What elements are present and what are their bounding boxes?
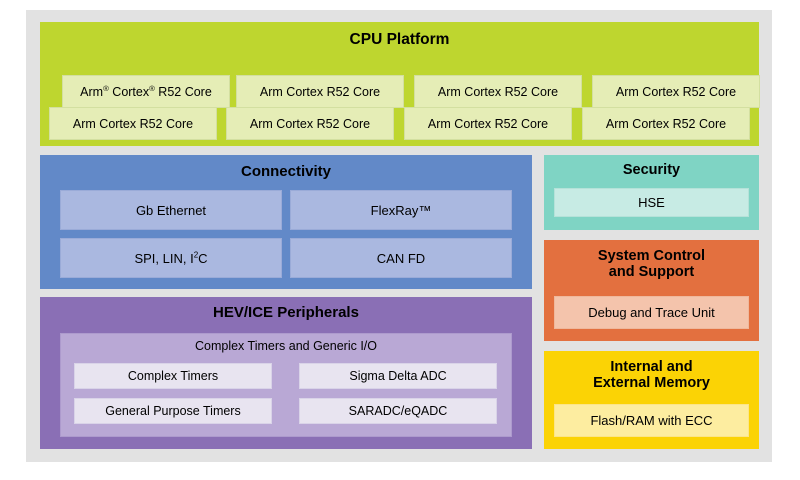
cpu-core-box: Arm Cortex R52 Core [592,75,760,108]
cpu-core-label: Arm Cortex R52 Core [260,85,380,99]
block-diagram: CPU Platform Arm® Cortex® R52 Core Arm C… [0,0,800,480]
connectivity-title: Connectivity [40,155,532,181]
hev-item-label: Sigma Delta ADC [349,369,446,383]
system-control-title-line2: and Support [544,264,759,280]
cpu-platform-title: CPU Platform [40,22,759,48]
connectivity-block: Connectivity Gb Ethernet FlexRay™ SPI, L… [40,155,532,289]
memory-item-label: Flash/RAM with ECC [590,413,712,428]
hev-item-sigma-delta-adc: Sigma Delta ADC [299,363,497,389]
cpu-core-box: Arm Cortex R52 Core [414,75,582,108]
memory-item-flash-ram-ecc: Flash/RAM with ECC [554,404,749,437]
hev-ice-title: HEV/ICE Peripherals [40,297,532,322]
connectivity-item-flexray: FlexRay™ [290,190,512,230]
system-control-title: System Control and Support [544,240,759,280]
cpu-core-label: Arm Cortex R52 Core [616,85,736,99]
hev-item-complex-timers: Complex Timers [74,363,272,389]
complex-timers-generic-io-label: Complex Timers and Generic I/O [61,334,511,353]
hev-item-general-purpose-timers: General Purpose Timers [74,398,272,424]
memory-title: Internal and External Memory [544,351,759,391]
cpu-core-box: Arm Cortex R52 Core [582,107,750,140]
cpu-platform-block: CPU Platform Arm® Cortex® R52 Core Arm C… [40,22,759,146]
hev-item-label: Complex Timers [128,369,218,383]
cpu-core-box: Arm® Cortex® R52 Core [62,75,230,108]
hev-item-label: General Purpose Timers [105,404,240,418]
security-title: Security [544,155,759,178]
hev-item-saradc-eqadc: SARADC/eQADC [299,398,497,424]
hev-item-label: SARADC/eQADC [349,404,448,418]
complex-timers-generic-io-panel: Complex Timers and Generic I/O Complex T… [60,333,512,437]
cpu-core-box: Arm Cortex R52 Core [226,107,394,140]
connectivity-item-label: Gb Ethernet [136,203,206,218]
cpu-core-label: Arm Cortex R52 Core [438,85,558,99]
system-control-title-line1: System Control [544,248,759,264]
cpu-core-box: Arm Cortex R52 Core [404,107,572,140]
security-block: Security HSE [544,155,759,230]
connectivity-item-label: FlexRay™ [371,203,432,218]
cpu-core-box: Arm Cortex R52 Core [49,107,217,140]
cpu-core-label: Arm Cortex R52 Core [606,117,726,131]
system-control-item-label: Debug and Trace Unit [588,305,714,320]
memory-title-line2: External Memory [544,375,759,391]
system-control-block: System Control and Support Debug and Tra… [544,240,759,341]
connectivity-item-label: CAN FD [377,251,425,266]
cpu-core-label: Arm Cortex R52 Core [73,117,193,131]
connectivity-item-can-fd: CAN FD [290,238,512,278]
memory-title-line1: Internal and [544,359,759,375]
connectivity-item-label: SPI, LIN, I2C [134,251,207,266]
cpu-core-label: Arm® Cortex® R52 Core [80,85,212,99]
connectivity-item-spi-lin-i2c: SPI, LIN, I2C [60,238,282,278]
cpu-core-label: Arm Cortex R52 Core [250,117,370,131]
security-item-hse: HSE [554,188,749,217]
cpu-core-label: Arm Cortex R52 Core [428,117,548,131]
memory-block: Internal and External Memory Flash/RAM w… [544,351,759,449]
hev-ice-peripherals-block: HEV/ICE Peripherals Complex Timers and G… [40,297,532,449]
security-item-label: HSE [638,195,665,210]
connectivity-item-gb-ethernet: Gb Ethernet [60,190,282,230]
system-control-item-debug-trace: Debug and Trace Unit [554,296,749,329]
cpu-core-box: Arm Cortex R52 Core [236,75,404,108]
